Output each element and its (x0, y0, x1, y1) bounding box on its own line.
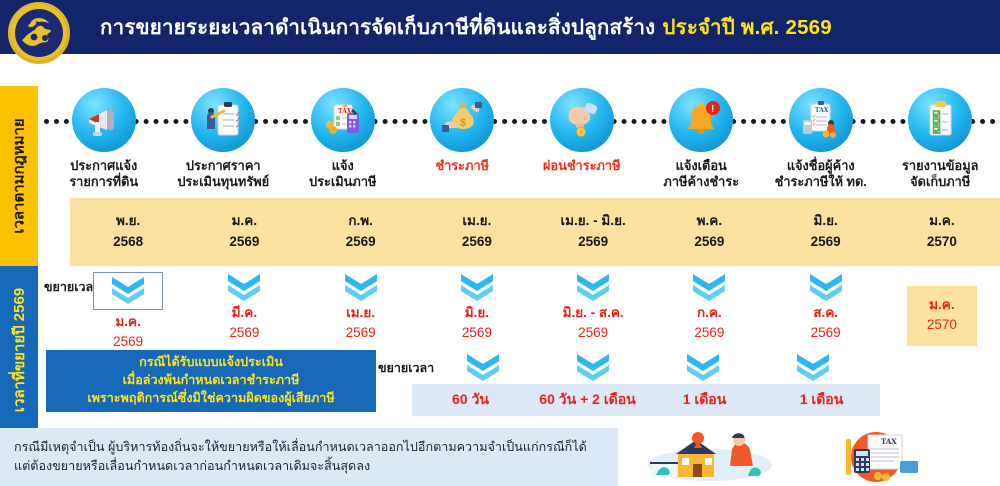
timeline-step-label-4: ชำระภาษี (435, 158, 489, 174)
extend-label-duration: ขยายเวลา (378, 358, 434, 378)
hand-coin-icon (550, 88, 614, 152)
legal-date-month-8: ม.ค. (929, 211, 954, 232)
timeline-step-7: TAX✓✓✓แจ้งชื่อผู้ค้าง ชำระภาษีให้ ทด. (761, 88, 881, 200)
svg-text:TAX: TAX (881, 437, 897, 446)
tax-list-person-icon: TAX✓✓✓ (789, 88, 853, 152)
timeline-step-1: ประกาศแจ้ง รายการที่ดิน (44, 88, 164, 200)
chevron-down-icon (573, 272, 613, 302)
legal-date-cell-7: มิ.ย.2569 (768, 198, 884, 266)
legal-date-cell-6: พ.ค.2569 (651, 198, 767, 266)
chevron-down-icon (341, 272, 381, 302)
timeline-step-8: รายงานข้อมูล จัดเก็บภาษี (881, 88, 1000, 200)
chevron-down-icon (806, 272, 846, 302)
chevron-down-icon (108, 275, 148, 305)
extended-date-year-3: 2569 (346, 323, 376, 343)
extended-date-month-2: มี.ค. (229, 303, 259, 323)
checklist-icon (908, 88, 972, 152)
duration-chevron-3 (648, 352, 758, 382)
extended-date-month-8: ม.ค. (927, 295, 957, 315)
legal-date-month-7: มิ.ย. (813, 211, 837, 232)
timeline-step-label-7: แจ้งชื่อผู้ค้าง ชำระภาษีให้ ทด. (775, 158, 867, 191)
note-line-3: เพราะพฤติการณ์ซึ่งมิใช่ความผิดของผู้เสีย… (87, 390, 334, 408)
legal-date-cell-1: พ.ย.2568 (70, 198, 186, 266)
sidebar-legal-timeline: เวลาตามกฎหมาย (0, 86, 38, 266)
timeline-step-label-8: รายงานข้อมูล จัดเก็บภาษี (902, 158, 978, 191)
extended-date-cell-2: มี.ค.2569 (186, 272, 302, 350)
duration-band: 60 วัน60 วัน + 2 เดือน1 เดือน1 เดือน (412, 384, 880, 416)
extended-date-cell-3: เม.ย.2569 (303, 272, 419, 350)
extended-date-month-3: เม.ย. (346, 303, 376, 323)
legal-date-year-3: 2569 (346, 232, 376, 253)
legal-date-year-4: 2569 (462, 232, 492, 253)
page-title-year: ประจำปี พ.ศ. 2569 (662, 11, 831, 44)
extended-date-cell-4: มิ.ย.2569 (419, 272, 535, 350)
duration-chevron-4 (758, 352, 868, 382)
extended-date-7: ส.ค.2569 (811, 303, 841, 344)
legal-date-cell-2: ม.ค.2569 (186, 198, 302, 266)
extended-date-cell-8: ม.ค.2570 (884, 272, 1000, 350)
timeline-step-label-6: แจ้งเตือน ภาษีค้างชำระ (663, 158, 739, 191)
money-bag-hand-icon: $ (430, 88, 494, 152)
extended-date-year-6: 2569 (694, 323, 724, 343)
sidebar-legal-label: เวลาตามกฎหมาย (7, 118, 31, 233)
timeline-step-label-1: ประกาศแจ้ง รายการที่ดิน (69, 158, 138, 191)
legal-date-year-8: 2570 (927, 232, 957, 253)
legal-date-cell-3: ก.พ.2569 (303, 198, 419, 266)
legal-date-year-6: 2569 (694, 232, 724, 253)
legal-date-year-5: 2569 (578, 232, 608, 253)
extended-date-month-5: มิ.ย. - ส.ค. (563, 303, 624, 323)
house-with-person-illustration-icon (638, 431, 788, 483)
megaphone-icon (72, 88, 136, 152)
extended-date-chip-8: ม.ค.2570 (907, 286, 977, 346)
chevron-down-icon (573, 352, 613, 382)
legal-date-month-2: ม.ค. (232, 211, 257, 232)
svg-text:$: $ (460, 117, 466, 129)
extended-chevron-box-1 (93, 272, 163, 310)
extended-date-year-8: 2570 (927, 315, 957, 335)
infographic-page: การขยายระยะเวลาดำเนินการจัดเก็บภาษีที่ดิ… (0, 0, 1000, 486)
timeline-step-4: $ชำระภาษี (403, 88, 523, 200)
timeline-step-5: ผ่อนชำระภาษี (522, 88, 642, 200)
timeline-step-3: TAXแจ้ง ประเมินภาษี (283, 88, 403, 200)
legal-date-cell-5: เม.ย. - มิ.ย.2569 (535, 198, 651, 266)
page-title-main: การขยายระยะเวลาดำเนินการจัดเก็บภาษีที่ดิ… (100, 11, 655, 44)
extended-date-month-7: ส.ค. (811, 303, 841, 323)
sidebar-extended-label: เวลาที่ขยายปี 2569 (7, 288, 31, 412)
extended-date-year-5: 2569 (563, 323, 624, 343)
extended-date-row: ม.ค.2569มี.ค.2569เม.ย.2569มิ.ย.2569มิ.ย.… (70, 272, 1000, 350)
extended-date-month-4: มิ.ย. (462, 303, 492, 323)
extended-date-2: มี.ค.2569 (229, 303, 259, 344)
clipboard-person-icon: ✓✓✓ (191, 88, 255, 152)
chevron-down-icon (224, 272, 264, 302)
legal-date-year-2: 2569 (229, 232, 259, 253)
timeline-step-label-2: ประกาศราคา ประเมินทุนทรัพย์ (177, 158, 269, 191)
svg-text:TAX: TAX (815, 107, 829, 114)
legal-date-month-1: พ.ย. (116, 211, 140, 232)
page-header: การขยายระยะเวลาดำเนินการจัดเก็บภาษีที่ดิ… (0, 0, 1000, 54)
legal-date-cell-4: เม.ย.2569 (419, 198, 535, 266)
timeline-steps: ประกาศแจ้ง รายการที่ดิน✓✓✓ประกาศราคา ประ… (44, 88, 1000, 200)
extended-date-month-1: ม.ค. (113, 312, 143, 332)
timeline-step-2: ✓✓✓ประกาศราคา ประเมินทุนทรัพย์ (164, 88, 284, 200)
chevron-down-icon (793, 352, 833, 382)
chevron-down-icon (689, 272, 729, 302)
timeline-step-6: !แจ้งเตือน ภาษีค้างชำระ (642, 88, 762, 200)
note-line-2: เมื่อล่วงพ้นกำหนดเวลาชำระภาษี (123, 372, 300, 390)
duration-value-3: 1 เดือน (646, 384, 763, 416)
legal-date-year-1: 2568 (113, 232, 143, 253)
footer-note: กรณีมีเหตุจำเป็น ผู้บริหารท้องถิ่นจะให้ข… (0, 428, 618, 486)
legal-date-month-4: เม.ย. (462, 211, 491, 232)
legal-date-band: พ.ย.2568ม.ค.2569ก.พ.2569เม.ย.2569เม.ย. -… (70, 198, 1000, 266)
duration-value-4: 1 เดือน (763, 384, 880, 416)
svg-text:!: ! (711, 104, 714, 115)
duration-chevron-1 (428, 352, 538, 382)
legal-date-cell-8: ม.ค.2570 (884, 198, 1000, 266)
duration-value-1: 60 วัน (412, 384, 529, 416)
note-line-1: กรณีได้รับแบบแจ้งประเมิน (139, 354, 283, 372)
extended-date-year-2: 2569 (229, 323, 259, 343)
installment-condition-note: กรณีได้รับแบบแจ้งประเมิน เมื่อล่วงพ้นกำห… (46, 350, 376, 412)
footer-line-2: แต่ต้องขยายหรือเลื่อนกำหนดเวลาก่อนกำหนดเ… (14, 457, 604, 476)
legal-date-month-5: เม.ย. - มิ.ย. (561, 211, 626, 232)
duration-chevron-2 (538, 352, 648, 382)
chevron-down-icon (457, 272, 497, 302)
tax-calculator-icon: TAX (311, 88, 375, 152)
extended-date-cell-7: ส.ค.2569 (768, 272, 884, 350)
thai-government-singha-emblem-icon (8, 2, 70, 64)
extended-date-3: เม.ย.2569 (346, 303, 376, 344)
duration-value-2: 60 วัน + 2 เดือน (529, 384, 646, 416)
legal-date-month-6: พ.ค. (697, 211, 722, 232)
chevron-down-icon (463, 352, 503, 382)
extended-date-cell-1: ม.ค.2569 (70, 272, 186, 350)
svg-text:✓: ✓ (235, 124, 240, 130)
extended-date-cell-5: มิ.ย. - ส.ค.2569 (535, 272, 651, 350)
extended-date-6: ก.ค.2569 (694, 303, 724, 344)
alert-bell-icon: ! (669, 88, 733, 152)
timeline-step-label-5: ผ่อนชำระภาษี (543, 158, 621, 174)
chevron-down-icon (683, 352, 723, 382)
timeline-step-label-3: แจ้ง ประเมินภาษี (309, 158, 376, 191)
extended-date-month-6: ก.ค. (694, 303, 724, 323)
footer-illustrations: TAX (628, 428, 1000, 486)
sidebar-extended-timeline: เวลาที่ขยายปี 2569 (0, 266, 38, 434)
tax-document-calculator-illustration-icon: TAX (816, 431, 936, 483)
svg-text:✓: ✓ (812, 122, 816, 128)
legal-date-month-3: ก.พ. (348, 211, 373, 232)
footer-line-1: กรณีมีเหตุจำเป็น ผู้บริหารท้องถิ่นจะให้ข… (14, 438, 604, 457)
extended-date-5: มิ.ย. - ส.ค.2569 (563, 303, 624, 344)
extended-date-4: มิ.ย.2569 (462, 303, 492, 344)
extended-date-cell-6: ก.ค.2569 (651, 272, 767, 350)
duration-chevron-row (428, 352, 868, 382)
extended-date-year-7: 2569 (811, 323, 841, 343)
page-title: การขยายระยะเวลาดำเนินการจัดเก็บภาษีที่ดิ… (100, 0, 990, 54)
extended-date-1: ม.ค.2569 (113, 312, 143, 353)
extended-date-year-4: 2569 (462, 323, 492, 343)
legal-date-year-7: 2569 (811, 232, 841, 253)
